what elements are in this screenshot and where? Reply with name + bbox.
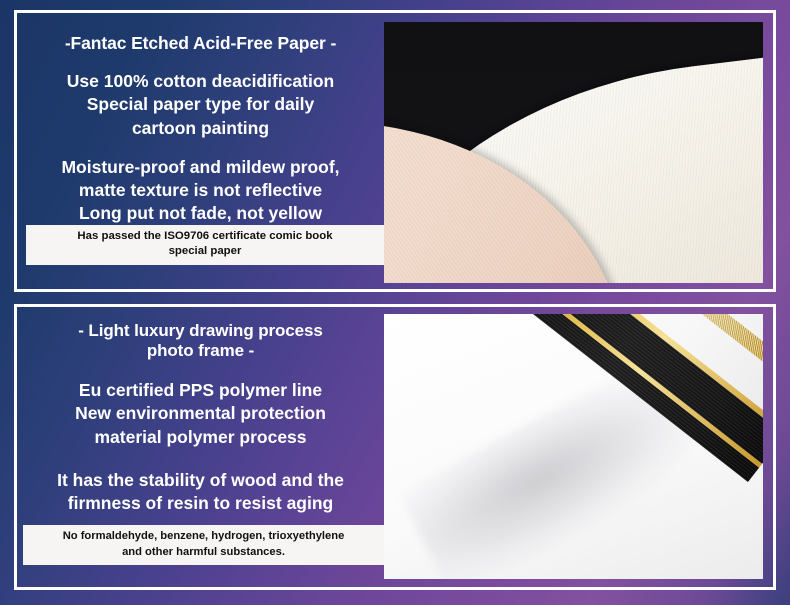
product-infographic: -Fantac Etched Acid-Free Paper - Use 100… bbox=[0, 0, 790, 605]
panel-1-text-column: -Fantac Etched Acid-Free Paper - Use 100… bbox=[17, 13, 384, 289]
panel-2-title: - Light luxury drawing process photo fra… bbox=[78, 321, 322, 360]
panel-1-certification-caption: Has passed the ISO9706 certificate comic… bbox=[26, 225, 384, 265]
panel-2-paragraph-1: Eu certified PPS polymer line New enviro… bbox=[75, 379, 326, 449]
panel-1-paragraph-2: Moisture-proof and mildew proof, matte t… bbox=[61, 156, 339, 226]
panel-1-title: -Fantac Etched Acid-Free Paper - bbox=[65, 33, 336, 53]
panel-2-text-column: - Light luxury drawing process photo fra… bbox=[17, 307, 384, 587]
panel-1-paragraph-1: Use 100% cotton deacidification Special … bbox=[67, 70, 334, 140]
cotton-paper-sheets-photo bbox=[384, 22, 763, 283]
panel-2-safety-caption: No formaldehyde, benzene, hydrogen, trio… bbox=[23, 525, 384, 565]
panel-1-photo-column bbox=[384, 13, 773, 289]
panel-acid-free-paper: -Fantac Etched Acid-Free Paper - Use 100… bbox=[14, 10, 776, 292]
panel-photo-frame: - Light luxury drawing process photo fra… bbox=[14, 304, 776, 590]
panel-2-photo-column bbox=[384, 307, 773, 587]
panel-2-paragraph-2: It has the stability of wood and the fir… bbox=[57, 469, 344, 516]
black-gold-photo-frame-corner bbox=[384, 314, 763, 579]
